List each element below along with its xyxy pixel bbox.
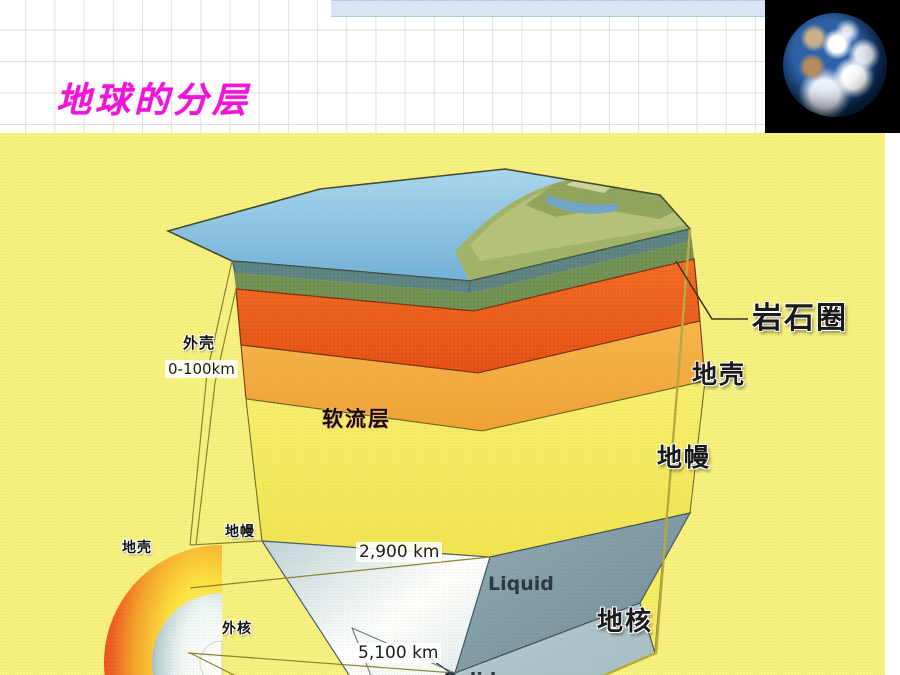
earth-sphere-cutaway <box>104 545 222 675</box>
page-title: 地球的分层 <box>56 72 251 123</box>
earth-structure-figure: 岩石圈 地壳 地幔 地核 外壳 0-100km 软流层 地壳 地幔 外核 内核 … <box>0 133 885 675</box>
label-mantle-right: 地幔 <box>657 438 711 474</box>
earth-globe-image <box>783 13 887 117</box>
label-depth-2900km: 2,900 km <box>356 542 442 562</box>
label-solid: Solid <box>443 669 496 675</box>
label-liquid: Liquid <box>488 573 554 595</box>
label-crust-right: 地壳 <box>692 355 746 391</box>
earth-photo <box>765 0 900 133</box>
label-outer-core-left: 外核 <box>222 618 252 638</box>
slide: 地球的分层 <box>0 0 900 675</box>
label-core-right: 地核 <box>597 601 653 638</box>
wedge-cross-section <box>168 169 705 675</box>
label-depth-0-100km: 0-100km <box>165 360 238 378</box>
label-mantle-left: 地幔 <box>225 521 255 541</box>
blue-accent-bar <box>331 0 765 17</box>
label-crust-left: 地壳 <box>122 537 152 557</box>
label-lithosphere: 岩石圈 <box>752 293 848 337</box>
label-outer-shell: 外壳 <box>183 332 215 353</box>
label-asthenosphere: 软流层 <box>322 403 391 433</box>
label-depth-5100km: 5,100 km <box>355 643 441 663</box>
earth-cutaway-illustration <box>0 133 885 675</box>
slide-header: 地球的分层 <box>0 0 900 133</box>
